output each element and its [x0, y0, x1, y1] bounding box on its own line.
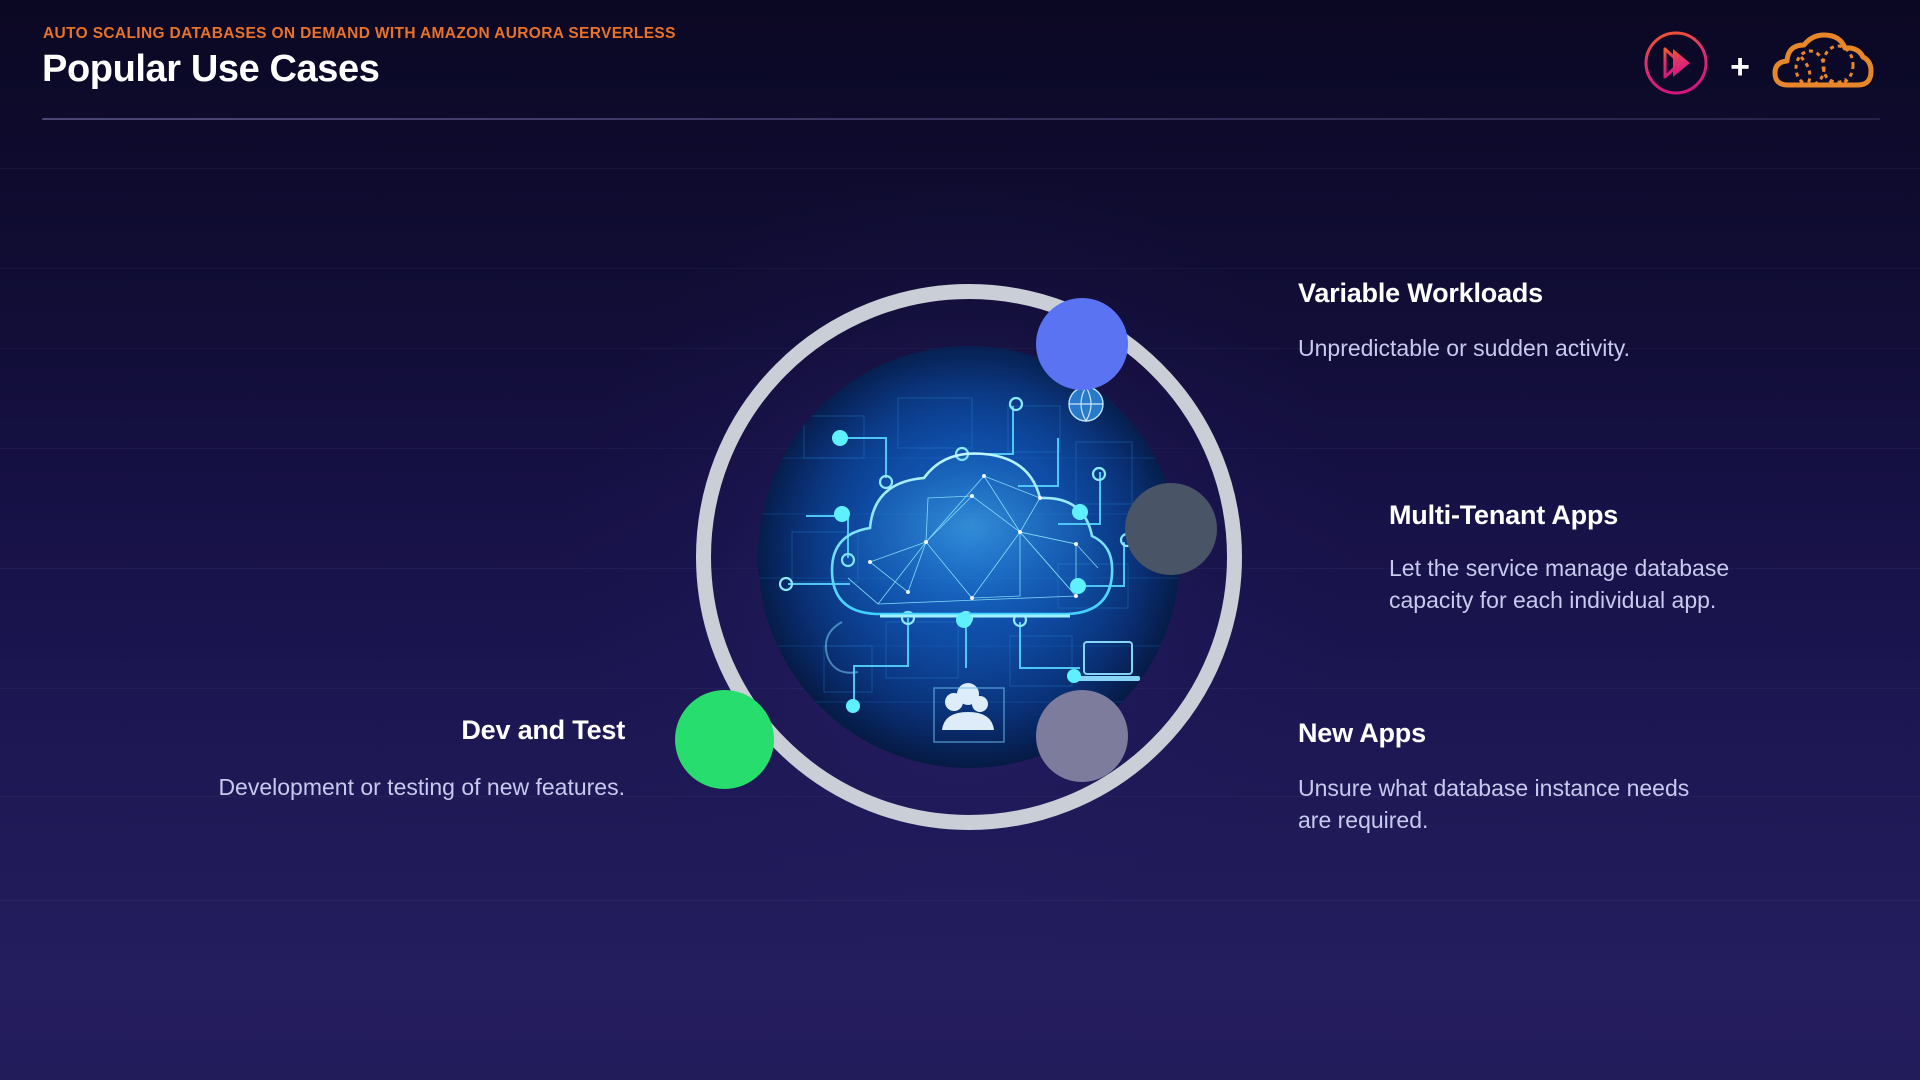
use-case-heading: Multi-Tenant Apps — [1389, 500, 1769, 531]
cloud-network-circle-image — [758, 346, 1180, 768]
slide-header: AUTO SCALING DATABASES ON DEMAND WITH AM… — [0, 0, 1920, 130]
use-case-body: Let the service manage database capacity… — [1389, 553, 1769, 616]
plus-separator: + — [1730, 50, 1750, 84]
dot-variable-workloads[interactable] — [1036, 298, 1128, 390]
use-case-body: Unpredictable or sudden activity. — [1298, 333, 1698, 365]
dot-new-apps[interactable] — [1036, 690, 1128, 782]
use-case-body: Unsure what database instance needs are … — [1298, 773, 1728, 836]
pluralsight-play-logo — [1640, 27, 1712, 104]
use-case-heading: New Apps — [1298, 718, 1728, 749]
use-case-diagram — [684, 272, 1254, 842]
dot-dev-and-test[interactable] — [675, 690, 774, 789]
slide-canvas: AUTO SCALING DATABASES ON DEMAND WITH AM… — [0, 0, 1920, 1080]
page-title: Popular Use Cases — [42, 48, 379, 91]
aws-aurora-cloud-logo — [1768, 27, 1876, 104]
dot-multi-tenant-apps[interactable] — [1125, 483, 1217, 575]
use-case-multi-tenant-apps: Multi-Tenant Apps Let the service manage… — [1389, 500, 1769, 616]
use-case-variable-workloads: Variable Workloads Unpredictable or sudd… — [1298, 278, 1698, 365]
header-divider — [42, 118, 1880, 120]
brand-logo-group: + — [1640, 20, 1876, 110]
use-case-new-apps: New Apps Unsure what database instance n… — [1298, 718, 1728, 836]
use-case-heading: Variable Workloads — [1298, 278, 1698, 309]
use-case-heading: Dev and Test — [180, 715, 625, 746]
use-case-body: Development or testing of new features. — [180, 772, 625, 804]
use-case-dev-and-test: Dev and Test Development or testing of n… — [180, 715, 625, 804]
course-eyebrow-label: AUTO SCALING DATABASES ON DEMAND WITH AM… — [43, 25, 676, 43]
